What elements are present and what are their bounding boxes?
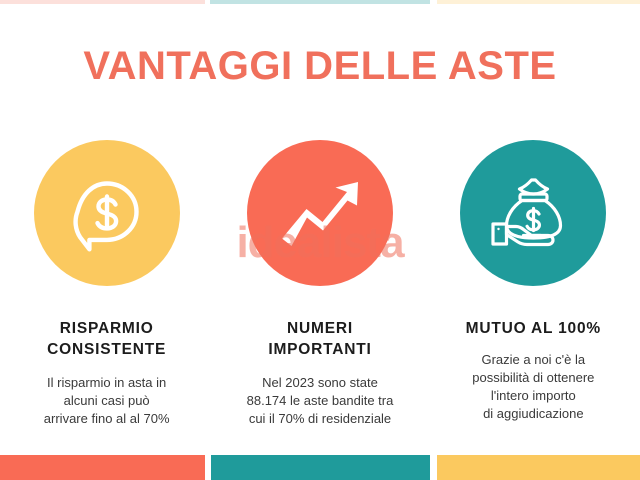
bottom-bar-yellow: [437, 455, 640, 480]
badge-circle-yellow: [34, 140, 180, 286]
feature-column-mutuo: MUTUO AL 100% Grazie a noi c'è la possib…: [427, 140, 640, 428]
feature-column-risparmio: RISPARMIO CONSISTENTE Il risparmio in as…: [0, 140, 213, 428]
feature-body-text: Grazie a noi c'è la possibilità di otten…: [472, 351, 594, 423]
page-title: VANTAGGI DELLE ASTE: [0, 45, 640, 87]
top-strip-yellow-segment: [437, 0, 640, 4]
top-strip-coral-segment: [0, 0, 205, 4]
speech-bubble-dollar-icon: [68, 174, 146, 252]
feature-body-text: Nel 2023 sono state 88.174 le aste bandi…: [247, 374, 394, 428]
bottom-bar-teal: [211, 455, 430, 480]
feature-column-numeri: NUMERI IMPORTANTI Nel 2023 sono state 88…: [213, 140, 426, 428]
feature-heading: RISPARMIO CONSISTENTE: [47, 319, 166, 361]
growth-arrow-up-icon: [278, 176, 362, 250]
top-strip-gap-2: [430, 0, 437, 4]
hand-money-bag-icon: [489, 174, 577, 252]
badge-circle-teal: [460, 140, 606, 286]
top-accent-strip: [0, 0, 640, 4]
infographic-slide: VANTAGGI DELLE ASTE RISPARMIO CONSISTENT…: [0, 0, 640, 480]
bottom-bar-gap-2: [430, 455, 437, 480]
feature-columns: RISPARMIO CONSISTENTE Il risparmio in as…: [0, 140, 640, 428]
bottom-accent-bars: [0, 455, 640, 480]
feature-heading: MUTUO AL 100%: [466, 319, 601, 340]
top-strip-teal-segment: [210, 0, 430, 4]
bottom-bar-coral: [0, 455, 205, 480]
feature-body-text: Il risparmio in asta in alcuni casi può …: [44, 374, 170, 428]
feature-heading: NUMERI IMPORTANTI: [268, 319, 371, 361]
badge-circle-coral: [247, 140, 393, 286]
